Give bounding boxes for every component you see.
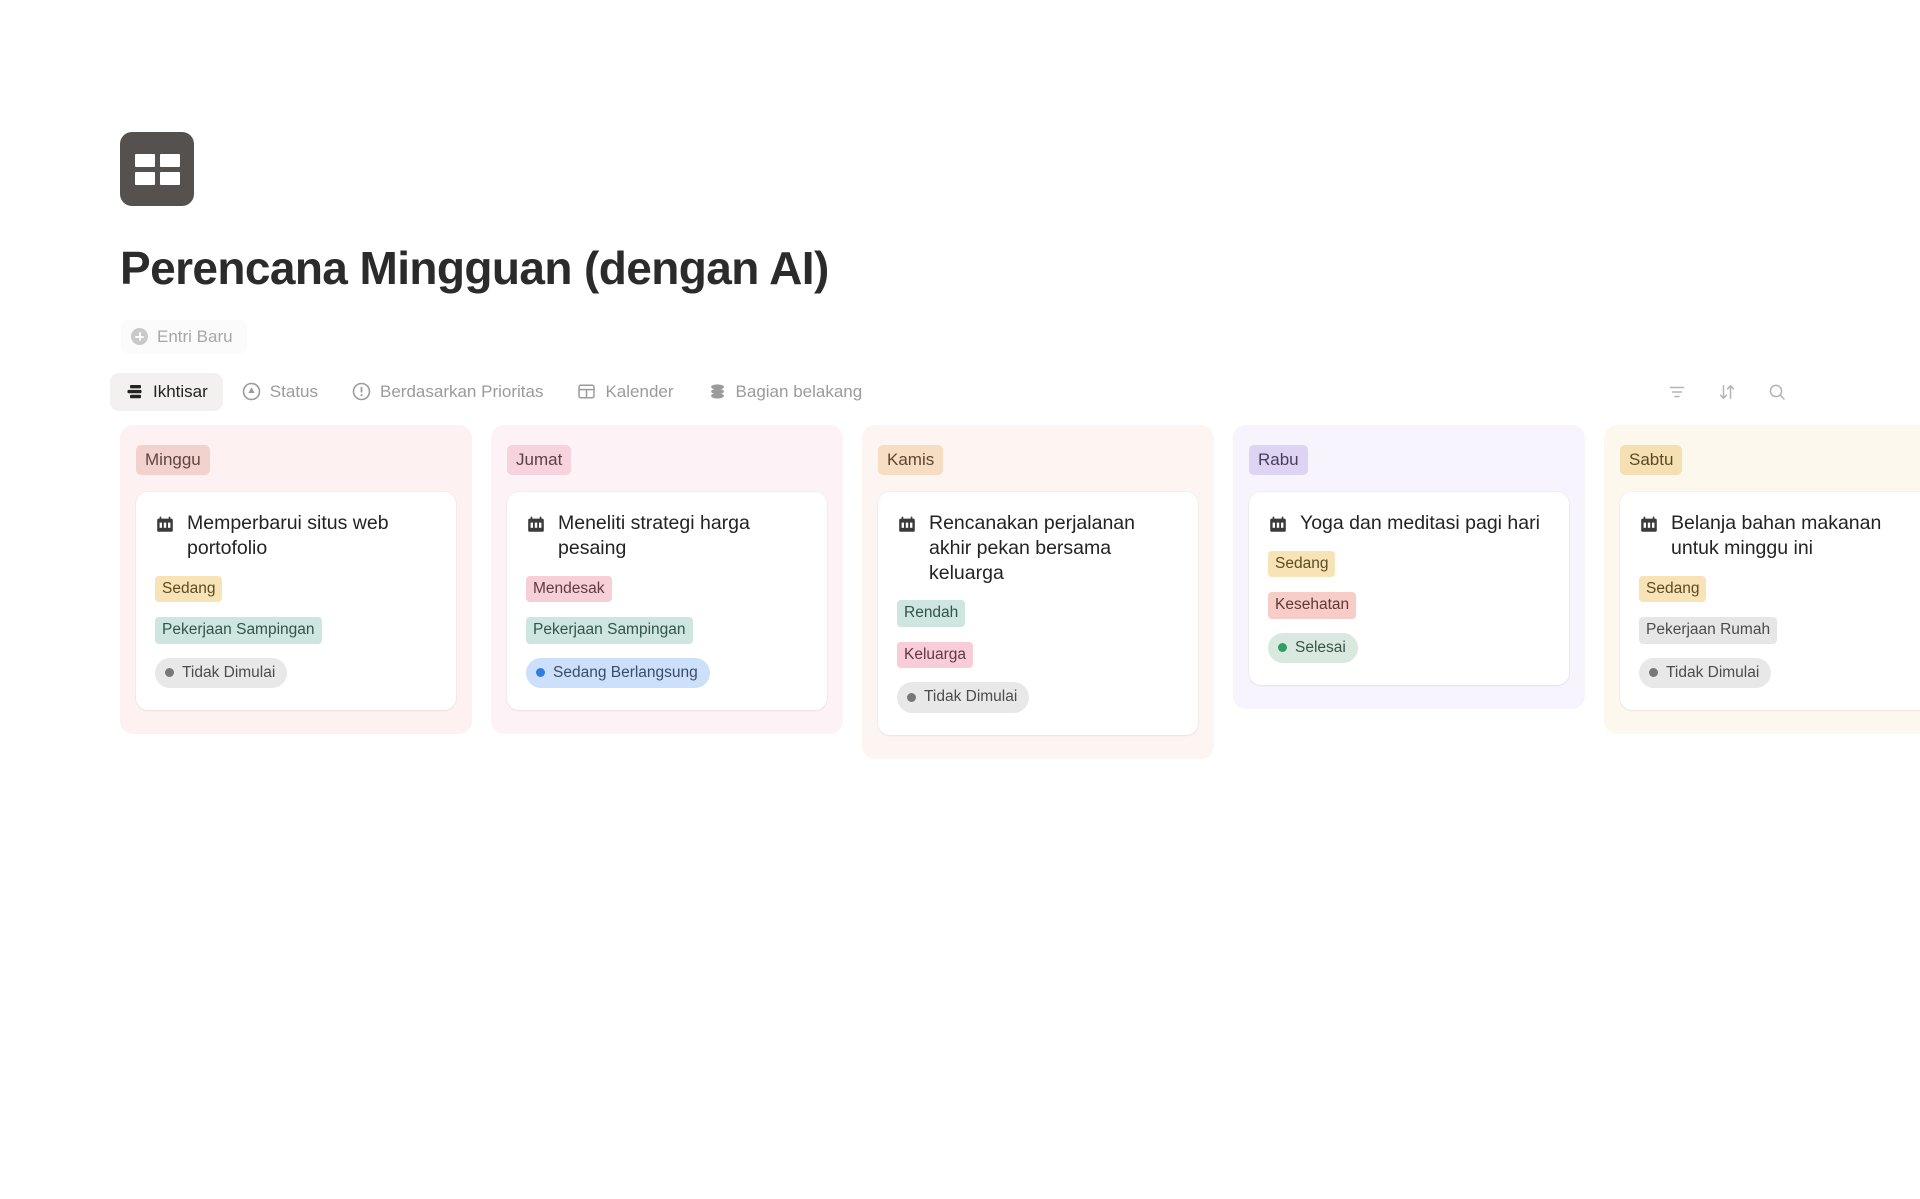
card-title-row: Rencanakan perjalanan akhir pekan bersam… [897, 511, 1179, 586]
priority-tag[interactable]: Sedang [1268, 551, 1335, 578]
status-dot-icon [907, 693, 916, 702]
kanban-board: Minggu Memperbarui situs web portofolio … [0, 425, 1920, 759]
database-stack-icon [708, 382, 727, 401]
category-tag-row: Kesehatan [1268, 592, 1550, 619]
card-title-row: Belanja bahan makanan untuk minggu ini [1639, 511, 1920, 561]
calendar-icon [897, 515, 917, 535]
view-tabs: Ikhtisar Status [110, 373, 877, 411]
category-tag[interactable]: Pekerjaan Rumah [1639, 617, 1777, 644]
task-card[interactable]: Memperbarui situs web portofolio Sedang … [136, 492, 456, 710]
category-tag[interactable]: Keluarga [897, 642, 973, 669]
priority-tag[interactable]: Sedang [1639, 576, 1706, 603]
priority-tag-row: Sedang [155, 576, 437, 603]
status-badge[interactable]: Sedang Berlangsung [526, 658, 710, 689]
task-card[interactable]: Rencanakan perjalanan akhir pekan bersam… [878, 492, 1198, 735]
new-entry-label: Entri Baru [157, 327, 233, 347]
calendar-icon [1639, 515, 1659, 535]
card-title: Yoga dan meditasi pagi hari [1300, 511, 1540, 536]
priority-tag-row: Mendesak [526, 576, 808, 603]
calendar-grid-icon [577, 382, 596, 401]
task-card[interactable]: Yoga dan meditasi pagi hari Sedang Keseh… [1249, 492, 1569, 685]
board-column: Kamis Rencanakan perjalanan akhir pekan … [862, 425, 1214, 759]
search-icon[interactable] [1764, 379, 1790, 405]
priority-tag[interactable]: Mendesak [526, 576, 612, 603]
column-day-pill: Jumat [507, 445, 571, 475]
status-dot-icon [536, 668, 545, 677]
board-column: Rabu Yoga dan meditasi pagi hari Sedang … [1233, 425, 1585, 709]
priority-exclamation-icon [352, 382, 371, 401]
board-column: Minggu Memperbarui situs web portofolio … [120, 425, 472, 734]
category-tag-row: Pekerjaan Sampingan [526, 617, 808, 644]
tab-berdasarkan-prioritas[interactable]: Berdasarkan Prioritas [337, 373, 558, 411]
logo-cell-2 [160, 154, 180, 167]
task-card[interactable]: Belanja bahan makanan untuk minggu ini S… [1620, 492, 1920, 710]
card-title-row: Meneliti strategi harga pesaing [526, 511, 808, 561]
logo-cell-3 [135, 172, 155, 185]
tab-status[interactable]: Status [227, 373, 333, 411]
status-label: Tidak Dimulai [924, 689, 1017, 705]
view-tabbar: Ikhtisar Status [0, 372, 1920, 412]
category-tag-row: Pekerjaan Sampingan [155, 617, 437, 644]
sort-arrows-icon[interactable] [1714, 379, 1740, 405]
board-column: Sabtu Belanja bahan makanan untuk minggu… [1604, 425, 1920, 734]
logo-grid [135, 154, 180, 185]
status-badge[interactable]: Tidak Dimulai [155, 658, 287, 689]
category-tag[interactable]: Pekerjaan Sampingan [526, 617, 693, 644]
status-badge[interactable]: Selesai [1268, 633, 1358, 664]
column-day-pill: Rabu [1249, 445, 1308, 475]
tab-label: Bagian belakang [736, 382, 863, 402]
tab-ikhtisar[interactable]: Ikhtisar [110, 373, 223, 411]
status-label: Tidak Dimulai [182, 665, 275, 681]
status-label: Tidak Dimulai [1666, 665, 1759, 681]
page-header: Perencana Mingguan (dengan AI) Entri Bar… [0, 0, 1920, 354]
new-entry-button[interactable]: Entri Baru [121, 320, 247, 354]
plus-circle-icon [131, 328, 148, 345]
tab-label: Status [270, 382, 318, 402]
card-title-row: Yoga dan meditasi pagi hari [1268, 511, 1550, 536]
tab-label: Ikhtisar [153, 382, 208, 402]
column-day-pill: Sabtu [1620, 445, 1682, 475]
status-dot-icon [165, 668, 174, 677]
category-tag-row: Keluarga [897, 642, 1179, 669]
calendar-icon [155, 515, 175, 535]
calendar-icon [526, 515, 546, 535]
tab-label: Kalender [605, 382, 673, 402]
calendar-icon [1268, 515, 1288, 535]
status-dot-icon [1649, 668, 1658, 677]
category-tag[interactable]: Kesehatan [1268, 592, 1356, 619]
status-label: Selesai [1295, 640, 1346, 656]
card-title: Rencanakan perjalanan akhir pekan bersam… [929, 511, 1179, 586]
status-badge[interactable]: Tidak Dimulai [897, 682, 1029, 713]
card-title: Meneliti strategi harga pesaing [558, 511, 808, 561]
column-day-pill: Minggu [136, 445, 210, 475]
priority-tag-row: Sedang [1639, 576, 1920, 603]
priority-tag-row: Sedang [1268, 551, 1550, 578]
logo-cell-4 [160, 172, 180, 185]
status-drop-icon [242, 382, 261, 401]
tab-label: Berdasarkan Prioritas [380, 382, 543, 402]
category-tag[interactable]: Pekerjaan Sampingan [155, 617, 322, 644]
filter-icon[interactable] [1664, 379, 1690, 405]
column-day-pill: Kamis [878, 445, 943, 475]
app-page: Perencana Mingguan (dengan AI) Entri Bar… [0, 0, 1920, 1199]
status-label: Sedang Berlangsung [553, 665, 698, 681]
task-card[interactable]: Meneliti strategi harga pesaing Mendesak… [507, 492, 827, 710]
logo-cell-1 [135, 154, 155, 167]
priority-tag[interactable]: Sedang [155, 576, 222, 603]
card-title: Memperbarui situs web portofolio [187, 511, 437, 561]
grid-table-icon [120, 132, 194, 206]
board-toolbar [1664, 379, 1790, 405]
overview-icon [125, 382, 144, 401]
category-tag-row: Pekerjaan Rumah [1639, 617, 1920, 644]
priority-tag-row: Rendah [897, 600, 1179, 627]
tab-kalender[interactable]: Kalender [562, 373, 688, 411]
tab-bagian-belakang[interactable]: Bagian belakang [693, 373, 878, 411]
priority-tag[interactable]: Rendah [897, 600, 965, 627]
card-title: Belanja bahan makanan untuk minggu ini [1671, 511, 1920, 561]
status-dot-icon [1278, 643, 1287, 652]
card-title-row: Memperbarui situs web portofolio [155, 511, 437, 561]
status-badge[interactable]: Tidak Dimulai [1639, 658, 1771, 689]
page-title: Perencana Mingguan (dengan AI) [120, 243, 1920, 294]
board-column: Jumat Meneliti strategi harga pesaing Me… [491, 425, 843, 734]
